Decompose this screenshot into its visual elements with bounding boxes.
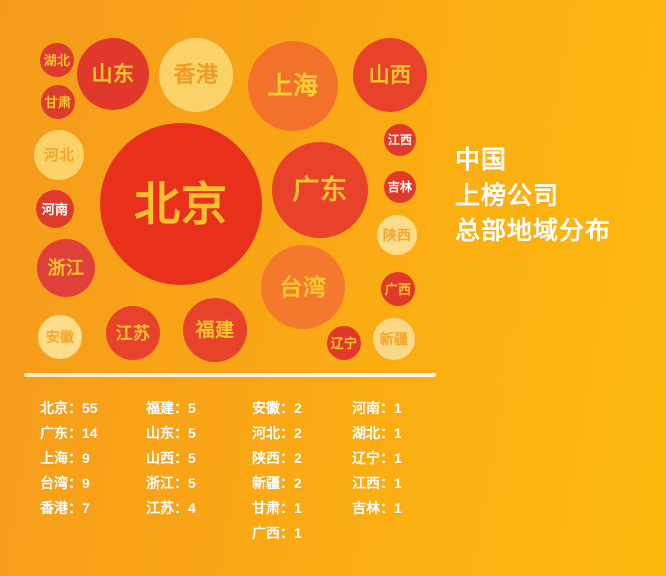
bubble-北京[interactable]: 北京 [100,123,262,285]
legend-item-value: 1 [394,396,402,421]
bubble-湖北[interactable]: 湖北 [40,43,74,77]
title-line-3: 总部地域分布 [455,214,660,250]
legend-item-separator: ： [280,496,294,521]
legend-item-value: 1 [294,521,302,546]
infographic-canvas: 北京广东上海台湾香港山西山东福建浙江江苏河北安徽新疆陕西河南甘肃湖北广西辽宁江西… [0,0,666,576]
legend-item-separator: ： [280,396,294,421]
legend-item: 山西：5 [146,446,252,471]
legend-item: 上海：9 [40,446,146,471]
legend-item-name: 福建 [146,396,174,421]
legend-item-value: 1 [294,496,302,521]
bubble-chart: 北京广东上海台湾香港山西山东福建浙江江苏河北安徽新疆陕西河南甘肃湖北广西辽宁江西… [0,0,450,370]
page-title: 中国 上榜公司 总部地域分布 [455,143,660,250]
bubble-安徽[interactable]: 安徽 [38,315,82,359]
legend-item-separator: ： [174,446,188,471]
legend-item-value: 9 [82,471,90,496]
legend-item-name: 广东 [40,421,68,446]
legend-item-value: 2 [294,421,302,446]
legend-item-separator: ： [68,396,82,421]
legend-item-name: 吉林 [352,496,380,521]
legend-item: 陕西：2 [252,446,352,471]
legend-item-value: 1 [394,496,402,521]
legend-item-separator: ： [68,421,82,446]
bubble-山西[interactable]: 山西 [353,38,427,112]
legend-item-value: 1 [394,471,402,496]
legend-item-separator: ： [380,446,394,471]
legend-item-separator: ： [174,471,188,496]
legend-item-separator: ： [380,396,394,421]
legend-column-2: 安徽：2河北：2陕西：2新疆：2甘肃：1广西：1 [252,396,352,546]
bubble-广西[interactable]: 广西 [381,272,415,306]
bubble-辽宁[interactable]: 辽宁 [327,326,361,360]
legend-item-name: 北京 [40,396,68,421]
legend-item-value: 1 [394,421,402,446]
legend-item: 山东：5 [146,421,252,446]
legend-item-name: 浙江 [146,471,174,496]
legend-item: 河南：1 [352,396,440,421]
legend-item: 江西：1 [352,471,440,496]
bubble-台湾[interactable]: 台湾 [261,245,345,329]
legend-item-value: 2 [294,471,302,496]
legend-item-value: 5 [188,421,196,446]
bubble-江苏[interactable]: 江苏 [106,306,160,360]
legend-item: 新疆：2 [252,471,352,496]
legend-item-separator: ： [68,471,82,496]
legend-item-name: 江苏 [146,496,174,521]
legend-item-name: 河北 [252,421,280,446]
legend-item-separator: ： [380,496,394,521]
legend-item-name: 广西 [252,521,280,546]
legend-item-separator: ： [174,421,188,446]
divider [24,373,436,377]
legend-item-name: 辽宁 [352,446,380,471]
legend-item: 香港：7 [40,496,146,521]
legend-column-3: 河南：1湖北：1辽宁：1江西：1吉林：1 [352,396,440,546]
legend-item-name: 湖北 [352,421,380,446]
legend-item: 湖北：1 [352,421,440,446]
bubble-山东[interactable]: 山东 [77,38,149,110]
legend-item-name: 甘肃 [252,496,280,521]
legend-item: 河北：2 [252,421,352,446]
bubble-广东[interactable]: 广东 [272,142,368,238]
legend-item-name: 香港 [40,496,68,521]
legend-item: 福建：5 [146,396,252,421]
legend-item-value: 2 [294,446,302,471]
legend-column-1: 福建：5山东：5山西：5浙江：5江苏：4 [146,396,252,546]
legend-item-separator: ： [380,421,394,446]
legend-item-separator: ： [280,446,294,471]
legend-item-name: 安徽 [252,396,280,421]
legend-item-value: 5 [188,446,196,471]
legend-item-separator: ： [280,521,294,546]
legend-item-name: 新疆 [252,471,280,496]
legend-item: 吉林：1 [352,496,440,521]
legend-item-value: 7 [82,496,90,521]
legend-item-name: 山西 [146,446,174,471]
bubble-上海[interactable]: 上海 [248,41,338,131]
legend-item-value: 5 [188,471,196,496]
legend-item: 安徽：2 [252,396,352,421]
legend-item: 辽宁：1 [352,446,440,471]
legend-item-name: 山东 [146,421,174,446]
bubble-河北[interactable]: 河北 [34,130,84,180]
legend-item-separator: ： [68,496,82,521]
bubble-甘肃[interactable]: 甘肃 [41,85,75,119]
bubble-新疆[interactable]: 新疆 [373,318,415,360]
bubble-吉林[interactable]: 吉林 [384,171,416,203]
legend-item: 台湾：9 [40,471,146,496]
bubble-陕西[interactable]: 陕西 [377,215,417,255]
legend: 北京：55广东：14上海：9台湾：9香港：7福建：5山东：5山西：5浙江：5江苏… [40,396,440,546]
legend-item-value: 1 [394,446,402,471]
legend-column-0: 北京：55广东：14上海：9台湾：9香港：7 [40,396,146,546]
legend-item: 广东：14 [40,421,146,446]
legend-item-name: 江西 [352,471,380,496]
bubble-江西[interactable]: 江西 [384,124,416,156]
legend-item-value: 4 [188,496,196,521]
legend-item-name: 陕西 [252,446,280,471]
legend-item-name: 台湾 [40,471,68,496]
legend-item: 北京：55 [40,396,146,421]
legend-item-value: 14 [82,421,98,446]
legend-item: 浙江：5 [146,471,252,496]
legend-item-name: 上海 [40,446,68,471]
title-line-1: 中国 [455,143,660,179]
legend-item-separator: ： [174,396,188,421]
bubble-浙江[interactable]: 浙江 [37,239,95,297]
legend-item-separator: ： [280,471,294,496]
legend-item: 甘肃：1 [252,496,352,521]
legend-item-separator: ： [280,421,294,446]
bubble-福建[interactable]: 福建 [183,298,247,362]
legend-item-separator: ： [68,446,82,471]
bubble-河南[interactable]: 河南 [36,190,74,228]
title-line-2: 上榜公司 [455,179,660,215]
legend-item: 江苏：4 [146,496,252,521]
legend-item-value: 55 [82,396,98,421]
legend-item-separator: ： [174,496,188,521]
legend-item-value: 5 [188,396,196,421]
legend-item: 广西：1 [252,521,352,546]
legend-item-separator: ： [380,471,394,496]
legend-item-value: 2 [294,396,302,421]
legend-item-name: 河南 [352,396,380,421]
legend-item-value: 9 [82,446,90,471]
bubble-香港[interactable]: 香港 [159,38,233,112]
